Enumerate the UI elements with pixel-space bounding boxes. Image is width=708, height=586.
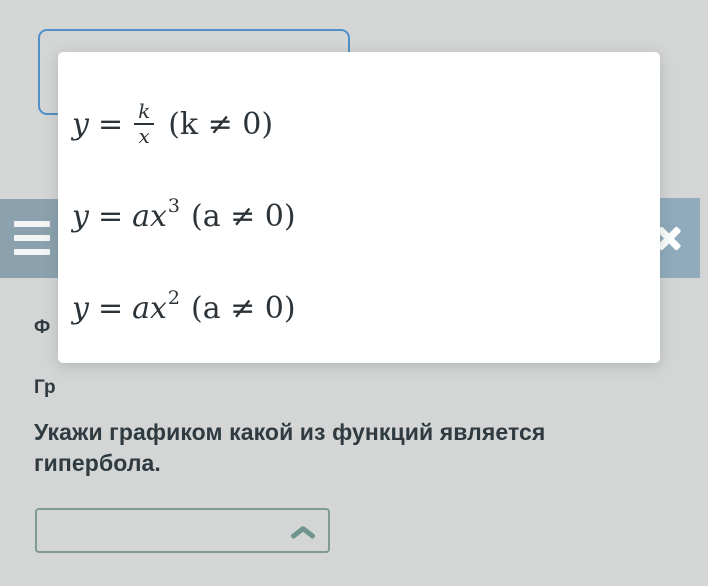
formula-exponent: 3 bbox=[168, 195, 180, 217]
formula-lhs: y bbox=[72, 291, 89, 326]
option-item-parabola[interactable]: y = a x 2 (a ≠ 0) bbox=[58, 262, 660, 354]
option-formula-hyperbola: y = k x (k ≠ 0) bbox=[58, 101, 273, 147]
answer-select[interactable] bbox=[35, 508, 330, 553]
hamburger-menu-icon-bar-3 bbox=[14, 249, 50, 255]
formula-fraction: k x bbox=[134, 101, 154, 147]
formula-operator: = bbox=[98, 199, 123, 234]
formula-numerator: k bbox=[134, 101, 154, 123]
formula-variable: x bbox=[150, 291, 167, 326]
option-item-cubic[interactable]: y = a x 3 (a ≠ 0) bbox=[58, 170, 660, 262]
options-dropdown-panel: y = k x (k ≠ 0) y = a x 3 (a ≠ 0) y = a … bbox=[58, 52, 660, 363]
formula-condition: (k ≠ 0) bbox=[168, 107, 273, 142]
formula-exponent: 2 bbox=[168, 287, 180, 309]
hamburger-menu-icon-bar-2 bbox=[14, 235, 50, 241]
answer-input-value bbox=[40, 31, 348, 51]
formula-denominator: x bbox=[135, 125, 154, 147]
chevron-up-icon[interactable] bbox=[290, 522, 316, 540]
answer-select-value bbox=[37, 510, 328, 521]
option-item-hyperbola[interactable]: y = k x (k ≠ 0) bbox=[58, 78, 660, 170]
option-formula-cubic: y = a x 3 (a ≠ 0) bbox=[58, 199, 296, 234]
formula-operator: = bbox=[98, 107, 123, 142]
formula-condition: (a ≠ 0) bbox=[191, 199, 296, 234]
question-text: Укажи графиком какой из функций является… bbox=[34, 417, 634, 479]
option-formula-parabola: y = a x 2 (a ≠ 0) bbox=[58, 291, 296, 326]
background-task-line-1: Ф bbox=[34, 317, 50, 338]
menu-button[interactable] bbox=[0, 199, 62, 278]
formula-operator: = bbox=[98, 291, 123, 326]
formula-coefficient: a bbox=[132, 291, 150, 326]
formula-variable: x bbox=[150, 199, 167, 234]
formula-lhs: y bbox=[72, 199, 89, 234]
background-task-line-2: Гр bbox=[34, 377, 56, 398]
formula-condition: (a ≠ 0) bbox=[191, 291, 296, 326]
formula-lhs: y bbox=[72, 107, 89, 142]
formula-coefficient: a bbox=[132, 199, 150, 234]
hamburger-menu-icon-bar-1 bbox=[14, 221, 50, 227]
